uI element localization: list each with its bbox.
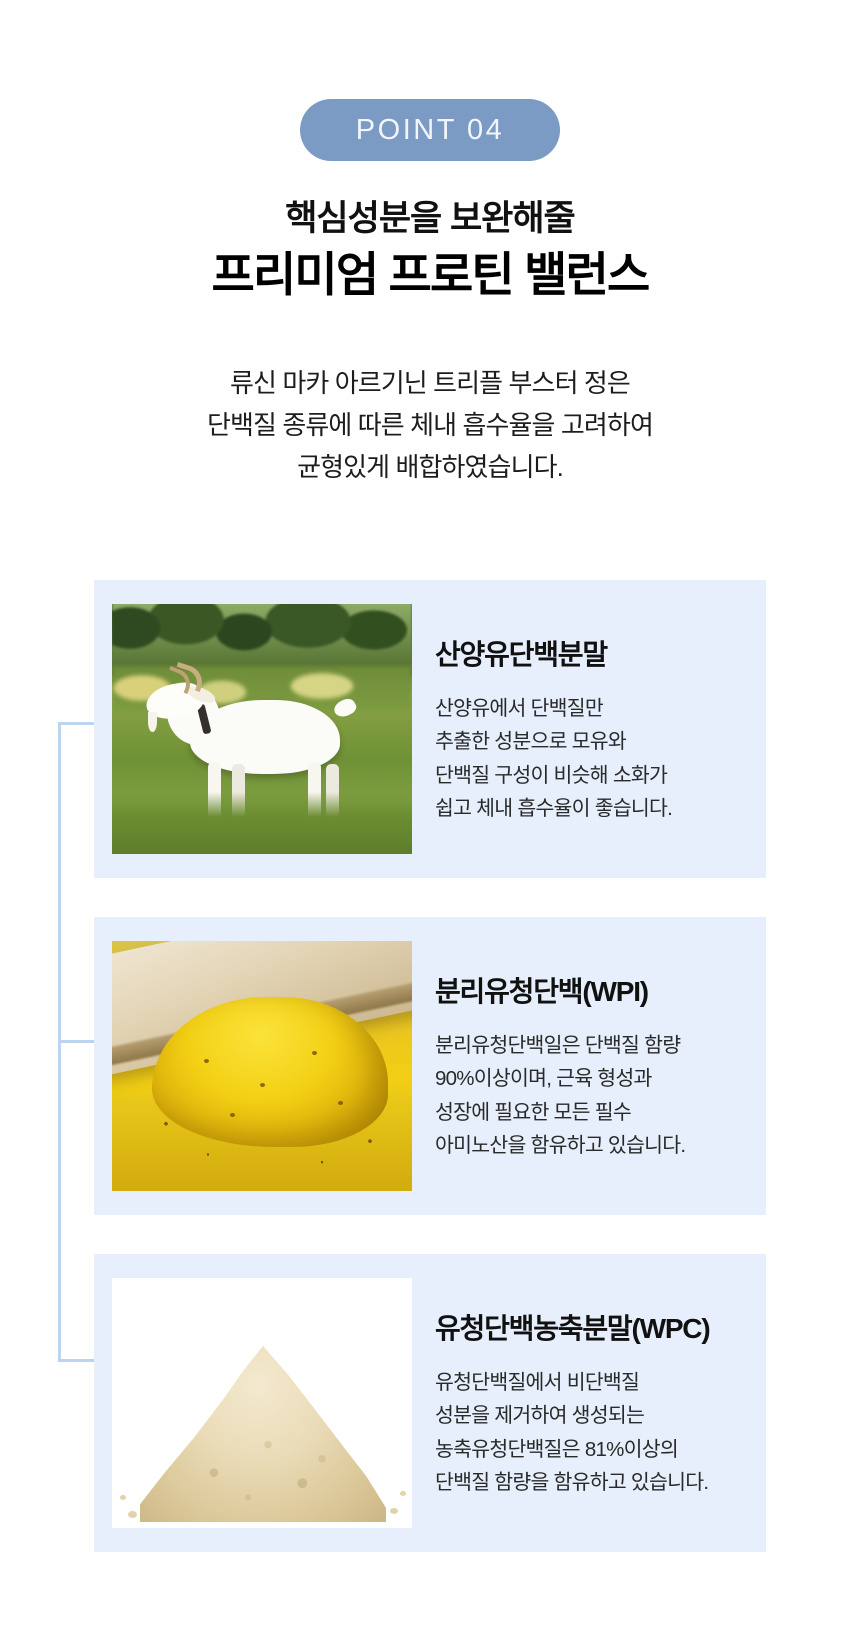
point-badge: POINT 04 [300,99,560,161]
yellow-whey-powder-spoon-photo [112,941,412,1191]
ingredient-card: 유청단백농축분말(WPC) 유청단백질에서 비단백질 성분을 제거하여 생성되는… [94,1254,766,1552]
card-text-block: 유청단백농축분말(WPC) 유청단백질에서 비단백질 성분을 제거하여 생성되는… [435,1307,719,1499]
ingredient-card-list: 산양유단백분말 산양유에서 단백질만 추출한 성분으로 모유와 단백질 구성이 … [94,580,766,1552]
infographic-page: POINT 04 핵심성분을 보완해줄 프리미엄 프로틴 밸런스 류신 마카 아… [0,0,860,1643]
point-badge-container: POINT 04 [0,0,860,161]
powder-crumb [128,1511,137,1518]
headline-subtitle: 핵심성분을 보완해줄 [0,197,860,241]
headline-block: 핵심성분을 보완해줄 프리미엄 프로틴 밸런스 [0,197,860,303]
goat-on-pasture-photo [112,604,412,854]
powder-speck [260,1083,265,1087]
powder-crumb [400,1491,406,1496]
intro-line-3: 균형있게 배합하였습니다. [0,446,860,488]
card-title: 산양유단백분말 [435,633,672,673]
card-description: 분리유청단백일은 단백질 함량 90%이상이며, 근육 형성과 성장에 필요한 … [435,1029,685,1162]
card-title: 유청단백농축분말(WPC) [435,1307,709,1347]
powder-speck [312,1051,317,1055]
powder-speck [338,1101,343,1105]
card-text-block: 분리유청단백(WPI) 분리유청단백일은 단백질 함량 90%이상이며, 근육 … [435,970,695,1162]
card-text-block: 산양유단백분말 산양유에서 단백질만 추출한 성분으로 모유와 단백질 구성이 … [435,633,682,825]
intro-line-2: 단백질 종류에 따른 체내 흡수율을 고려하여 [0,404,860,446]
headline-title: 프리미엄 프로틴 밸런스 [0,247,860,303]
ingredient-card: 산양유단백분말 산양유에서 단백질만 추출한 성분으로 모유와 단백질 구성이 … [94,580,766,878]
card-description: 산양유에서 단백질만 추출한 성분으로 모유와 단백질 구성이 비슷해 소화가 … [435,692,672,825]
intro-line-1: 류신 마카 아르기닌 트리플 부스터 정은 [0,362,860,404]
powder-crumb [120,1495,126,1500]
card-description: 유청단백질에서 비단백질 성분을 제거하여 생성되는 농축유청단백질은 81%이… [435,1366,709,1499]
goat-beard [148,712,157,732]
powder-crumb [390,1508,398,1514]
card-title: 분리유청단백(WPI) [435,970,685,1010]
intro-paragraph: 류신 마카 아르기닌 트리플 부스터 정은 단백질 종류에 따른 체내 흡수율을… [0,362,860,488]
powder-speck [204,1059,209,1063]
ingredient-card: 분리유청단백(WPI) 분리유청단백일은 단백질 함량 90%이상이며, 근육 … [94,917,766,1215]
powder-speck [230,1113,235,1117]
connector-vertical-line [58,722,61,1362]
beige-whey-powder-mound-photo [112,1278,412,1528]
powder-texture [140,1346,386,1522]
foreground-grass [112,792,412,854]
